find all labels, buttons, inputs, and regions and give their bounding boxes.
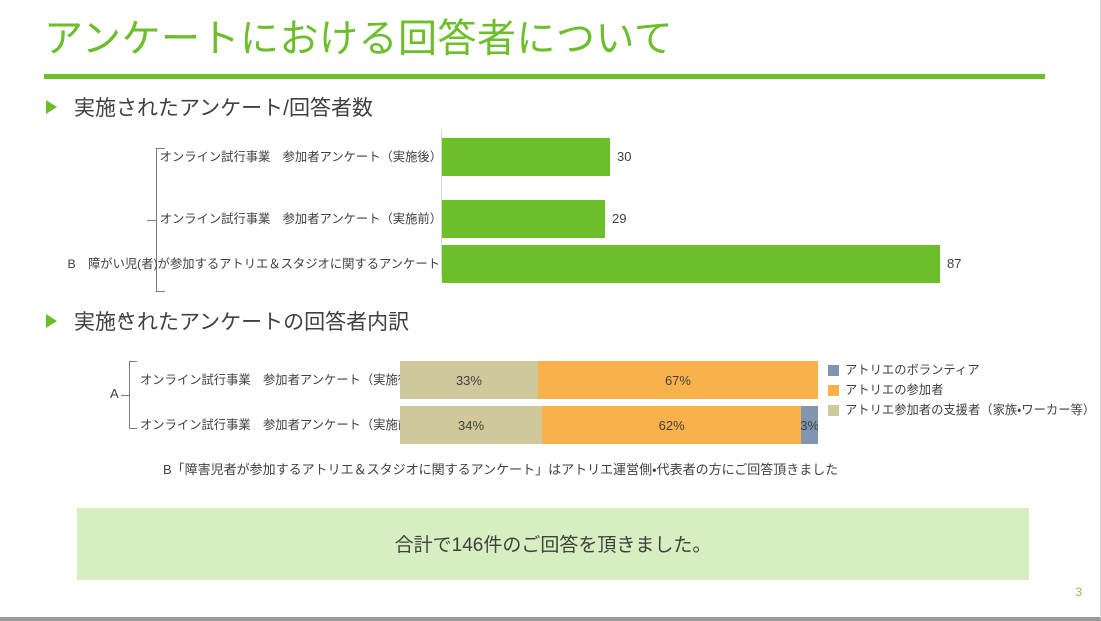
summary-text: 合計で146件のご回答を頂きました。	[395, 530, 712, 557]
legend-item-label: アトリエの参加者	[845, 382, 943, 399]
section-heading-label: 実施されたアンケート/回答者数	[74, 92, 373, 122]
chart1-value-b: 87	[940, 245, 961, 283]
triangle-right-icon	[46, 314, 57, 328]
footnote-text: B「障害児者が参加するアトリエ＆スタジオに関するアンケート」はアトリエ運営側・代…	[163, 459, 838, 478]
chart1-category-label-b: B 障がい児(者)が参加するアトリエ＆スタジオに関するアンケート	[67, 245, 442, 283]
chart1-value-before: 29	[605, 200, 626, 238]
summary-callout-box: 合計で146件のご回答を頂きました。	[77, 508, 1029, 580]
chart2-segment-participant: 62%	[542, 406, 801, 444]
legend-swatch-icon	[828, 385, 839, 396]
chart1-bar-after	[442, 138, 610, 176]
respondent-count-bar-chart: A オンライン試行事業 参加者アンケート（実施後） 30 オンライン試行事業 参…	[0, 130, 1101, 290]
chart1-bar-before	[442, 200, 605, 238]
slide-canvas: アンケートにおける回答者について 実施されたアンケート/回答者数 A オンライン…	[0, 0, 1101, 621]
section-heading-label: 実施されたアンケートの回答者内訳	[74, 306, 409, 336]
chart1-value-after: 30	[610, 138, 631, 176]
chart2-legend: アトリエのボランティア アトリエの参加者 アトリエ参加者の支援者（家族・ワーカー…	[828, 362, 1095, 419]
title-block: アンケートにおける回答者について	[44, 12, 1054, 79]
chart2-stacked-track: 33% 67%	[400, 361, 818, 399]
chart2-segment-participant: 67%	[538, 361, 818, 399]
chart2-stacked-track: 34% 62% 3%	[400, 406, 818, 444]
chart1-bar-b	[442, 245, 940, 283]
legend-swatch-icon	[828, 365, 839, 376]
legend-swatch-icon	[828, 405, 839, 416]
triangle-right-icon	[46, 100, 57, 114]
chart1-category-label: オンライン試行事業 参加者アンケート（実施後）	[160, 138, 442, 176]
title-underline-rule	[44, 74, 1045, 79]
section-heading-surveys: 実施されたアンケート/回答者数	[46, 92, 373, 122]
page-title: アンケートにおける回答者について	[44, 12, 1054, 68]
chart1-row-label-wrap: オンライン試行事業 参加者アンケート（実施後）	[0, 138, 442, 176]
chart2-segment-supporter: 33%	[400, 361, 538, 399]
chart1-row-label-wrap: オンライン試行事業 参加者アンケート（実施前）	[0, 200, 442, 238]
chart2-category-label: オンライン試行事業 参加者アンケート（実施後）	[140, 361, 395, 399]
legend-item-volunteer: アトリエのボランティア	[828, 362, 1095, 379]
legend-item-label: アトリエ参加者の支援者（家族・ワーカー等）	[845, 402, 1095, 419]
page-number: 3	[1075, 585, 1082, 599]
section-heading-breakdown: 実施されたアンケートの回答者内訳	[46, 306, 409, 336]
legend-item-participant: アトリエの参加者	[828, 382, 1095, 399]
chart1-row-label-wrap: B 障がい児(者)が参加するアトリエ＆スタジオに関するアンケート	[0, 245, 442, 283]
legend-item-label: アトリエのボランティア	[845, 362, 980, 379]
chart2-segment-volunteer: 3%	[801, 406, 818, 444]
chart2-segment-supporter: 34%	[400, 406, 542, 444]
chart1-category-label: オンライン試行事業 参加者アンケート（実施前）	[160, 200, 442, 238]
legend-item-supporter: アトリエ参加者の支援者（家族・ワーカー等）	[828, 402, 1095, 419]
chart2-category-label: オンライン試行事業 参加者アンケート（実施前）	[140, 406, 395, 444]
